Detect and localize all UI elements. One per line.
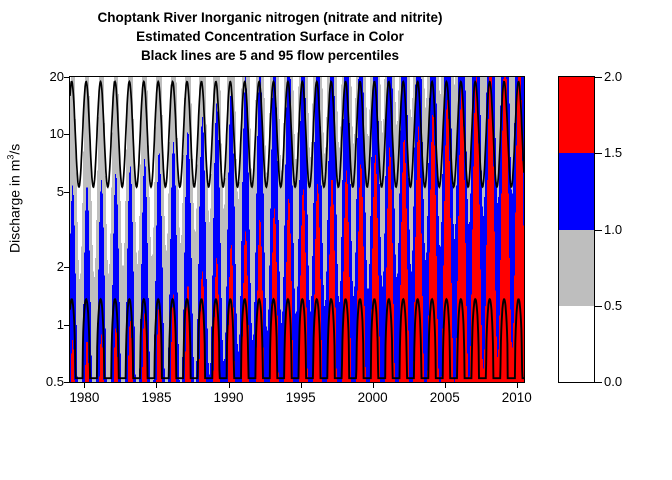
- chart-title-line-1: Choptank River Inorganic nitrogen (nitra…: [0, 8, 540, 27]
- legend-tick-label: 1.0: [604, 223, 622, 236]
- legend-tick-label: 2.0: [604, 70, 622, 83]
- y-axis-tick-labels: 0.51251020: [0, 0, 64, 480]
- x-axis-tick-mark: [84, 383, 85, 388]
- legend-band-gray: [559, 230, 594, 306]
- legend-tick-label: 0.0: [604, 375, 622, 388]
- x-axis-tick-label: 1990: [199, 390, 259, 405]
- legend-tick-mark: [595, 230, 602, 231]
- legend-band-blue: [559, 153, 594, 229]
- plot-area: [69, 76, 525, 383]
- x-axis-tick-label: 2005: [415, 390, 475, 405]
- y-axis-tick-label: 2: [6, 260, 64, 273]
- chart-title-line-2: Estimated Concentration Surface in Color: [0, 27, 540, 46]
- y-axis-tick-mark: [64, 325, 69, 326]
- chart-title-line-3: Black lines are 5 and 95 flow percentile…: [0, 46, 540, 65]
- chart-title-block: Choptank River Inorganic nitrogen (nitra…: [0, 8, 540, 65]
- y-axis-tick-label: 20: [6, 70, 64, 83]
- chart-canvas: Choptank River Inorganic nitrogen (nitra…: [0, 0, 672, 480]
- color-legend: [558, 76, 595, 383]
- x-axis-tick-mark: [229, 383, 230, 388]
- y-axis-tick-mark: [64, 192, 69, 193]
- y-axis-tick-label: 10: [6, 127, 64, 140]
- x-axis-tick-label: 2000: [343, 390, 403, 405]
- legend-tick-label: 0.5: [604, 299, 622, 312]
- legend-tick-label: 1.5: [604, 146, 622, 159]
- y-axis-tick-mark: [64, 267, 69, 268]
- y-axis-tick-mark: [64, 77, 69, 78]
- concentration-surface: [70, 77, 524, 382]
- x-axis-tick-mark: [373, 383, 374, 388]
- legend-tick-mark: [595, 77, 602, 78]
- x-axis-tick-label: 1995: [271, 390, 331, 405]
- y-axis-tick-label: 1: [6, 318, 64, 331]
- legend-tick-mark: [595, 306, 602, 307]
- x-axis-tick-mark: [156, 383, 157, 388]
- legend-band-white: [559, 306, 594, 382]
- x-axis-tick-mark: [445, 383, 446, 388]
- x-axis-tick-mark: [301, 383, 302, 388]
- legend-tick-mark: [595, 382, 602, 383]
- y-axis-tick-label: 5: [6, 185, 64, 198]
- x-axis-tick-label: 1980: [54, 390, 114, 405]
- x-axis-tick-mark: [517, 383, 518, 388]
- y-axis-tick-label: 0.5: [6, 375, 64, 388]
- x-axis-tick-label: 1985: [126, 390, 186, 405]
- legend-band-red: [559, 77, 594, 153]
- y-axis-tick-mark: [64, 382, 69, 383]
- y-axis-tick-mark: [64, 134, 69, 135]
- x-axis-tick-label: 2010: [487, 390, 547, 405]
- legend-tick-mark: [595, 153, 602, 154]
